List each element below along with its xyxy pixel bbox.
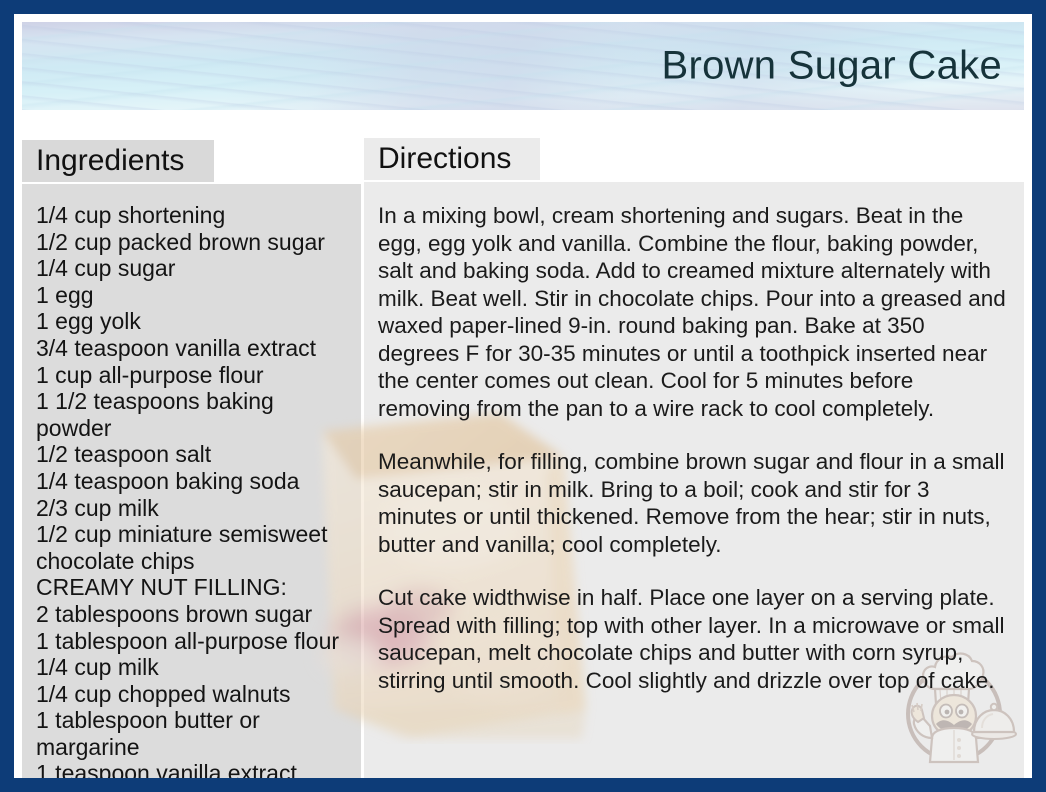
page-title: Brown Sugar Cake xyxy=(661,44,1002,89)
ingredient-item: 1/4 cup sugar xyxy=(36,255,351,282)
ingredient-item: 1/2 teaspoon salt xyxy=(36,441,351,468)
ingredient-item: 1/4 cup chopped walnuts xyxy=(36,681,351,708)
ingredient-item: CREAMY NUT FILLING: xyxy=(36,574,351,601)
direction-paragraph: Cut cake widthwise in half. Place one la… xyxy=(378,584,1010,694)
direction-paragraph: Meanwhile, for filling, combine brown su… xyxy=(378,448,1010,558)
ingredient-item: 1/2 cup packed brown sugar xyxy=(36,229,351,256)
tab-ingredients[interactable]: Ingredients xyxy=(22,140,214,182)
recipe-card: Brown Sugar Cake Ingredients 1/4 cup sho… xyxy=(0,0,1046,792)
ingredient-item: 1 tablespoon all-purpose flour xyxy=(36,628,351,655)
ingredient-item: 1/4 cup shortening xyxy=(36,202,351,229)
ingredient-item: 1 1/2 teaspoons baking powder xyxy=(36,388,351,441)
direction-paragraph: In a mixing bowl, cream shortening and s… xyxy=(378,202,1010,422)
directions-panel: In a mixing bowl, cream shortening and s… xyxy=(364,182,1024,778)
ingredients-list: 1/4 cup shortening1/2 cup packed brown s… xyxy=(36,202,351,778)
ingredient-item: 1 egg yolk xyxy=(36,308,351,335)
ingredient-item: 1 cup all-purpose flour xyxy=(36,362,351,389)
title-banner: Brown Sugar Cake xyxy=(22,22,1024,110)
tab-directions[interactable]: Directions xyxy=(364,138,540,180)
ingredient-item: 1/4 cup milk xyxy=(36,654,351,681)
directions-text: In a mixing bowl, cream shortening and s… xyxy=(378,202,1010,694)
ingredient-item: 3/4 teaspoon vanilla extract xyxy=(36,335,351,362)
ingredient-item: 2/3 cup milk xyxy=(36,495,351,522)
ingredients-panel: 1/4 cup shortening1/2 cup packed brown s… xyxy=(22,184,361,778)
ingredient-item: 1 tablespoon butter or margarine xyxy=(36,707,351,760)
ingredient-item: 1 teaspoon vanilla extract xyxy=(36,760,351,778)
card-sheet: Brown Sugar Cake Ingredients 1/4 cup sho… xyxy=(14,14,1032,778)
ingredient-item: 2 tablespoons brown sugar xyxy=(36,601,351,628)
ingredient-item: 1 egg xyxy=(36,282,351,309)
ingredient-item: 1/2 cup miniature semisweet chocolate ch… xyxy=(36,521,351,574)
ingredient-item: 1/4 teaspoon baking soda xyxy=(36,468,351,495)
